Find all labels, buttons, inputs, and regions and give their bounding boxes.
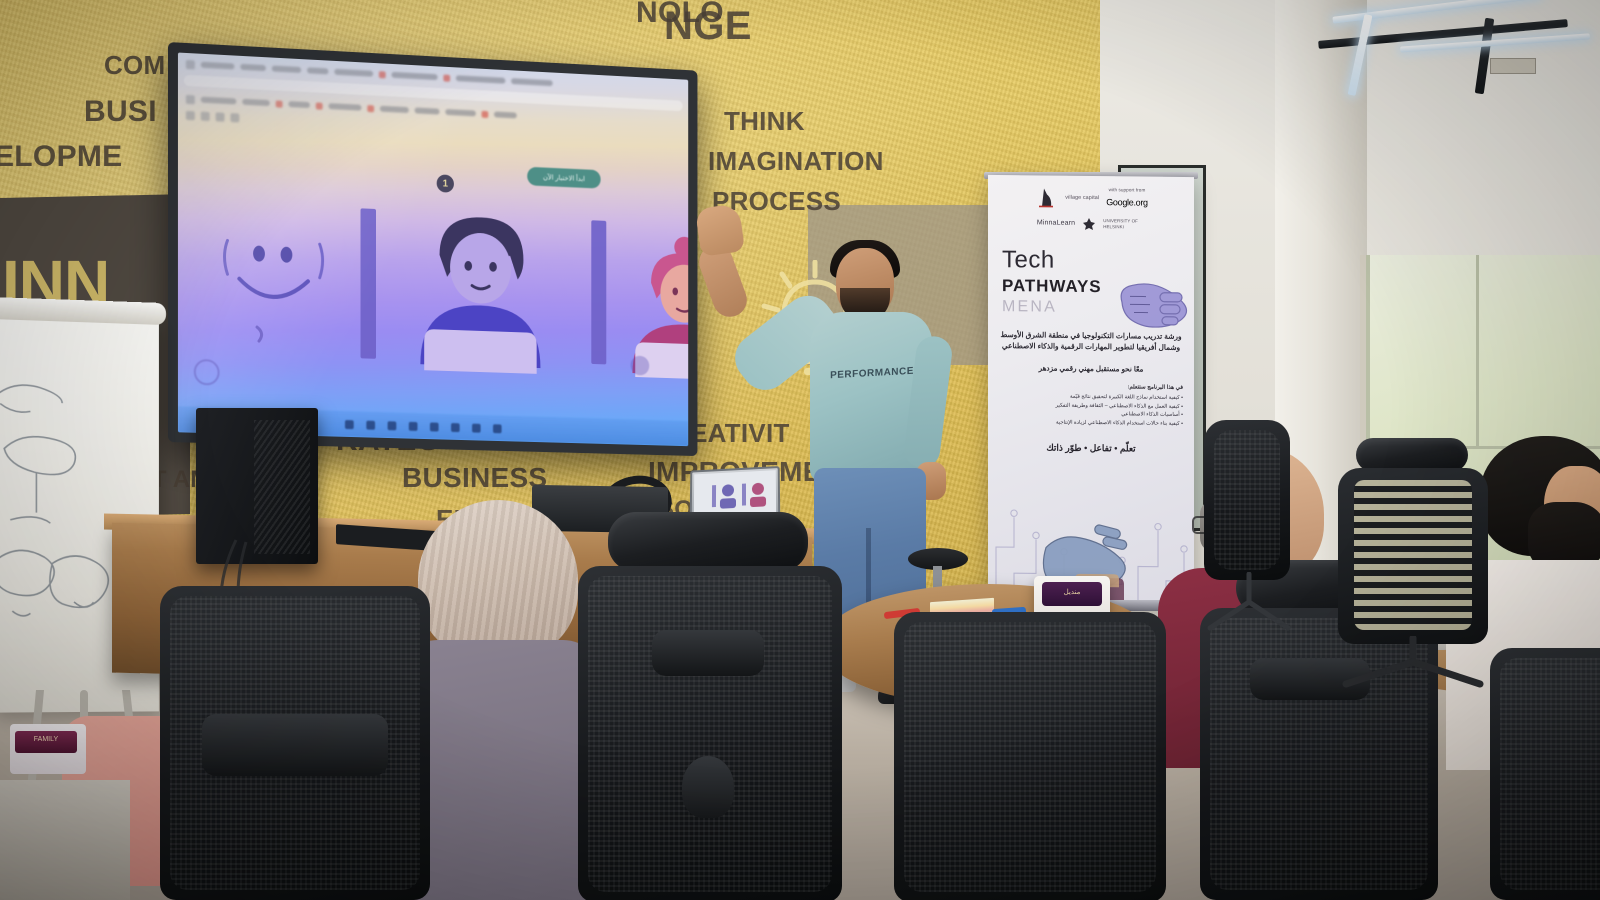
google-support-kicker: with support from: [1106, 187, 1148, 192]
wall-word-business: BUSINESS: [402, 462, 547, 494]
left-side-table: [0, 780, 130, 900]
chair-base-2: [1204, 572, 1294, 642]
office-chair-empty[interactable]: [1330, 438, 1496, 690]
person-at-laptop-illustration-1: [391, 206, 568, 379]
office-chair-background[interactable]: [1204, 420, 1294, 650]
smart-display[interactable]: ابدأ الاختبار الآن 1: [168, 42, 697, 456]
smiley-face-icon: [216, 222, 334, 346]
back-icon[interactable]: [186, 111, 195, 120]
person-at-laptop-illustration-2: [614, 231, 688, 381]
explorer-icon[interactable]: [409, 421, 418, 430]
banner-footer-tagline: تعلّم • تفاعل • طوّر ذاتك: [988, 442, 1194, 455]
banner-tagline-ar: معًا نحو مستقبل مهني رقمي مزدهر: [988, 362, 1194, 375]
wall-word-think: THINK: [724, 106, 805, 137]
mail-icon[interactable]: [472, 423, 481, 432]
banner-heading-pathways: PATHWAYS: [1002, 277, 1194, 296]
browser-menu-icon[interactable]: [186, 59, 195, 68]
banner-bullet-3: • كيفية بناء حالات استخدام الذكاء الاصطن…: [999, 418, 1183, 428]
office-chair-far-right[interactable]: [1490, 648, 1600, 900]
wall-word-imagination: IMAGINATION: [708, 146, 884, 177]
banner-heading-mena: MENA: [1002, 299, 1194, 317]
chair-base: [1330, 636, 1496, 696]
partner-crest-logo: [1034, 187, 1058, 209]
minnalearn-logo: MinnaLearn: [1037, 220, 1075, 227]
bookmark-folder-icon[interactable]: [186, 94, 195, 103]
refresh-icon[interactable]: [201, 112, 210, 121]
bookmark-icon[interactable]: [216, 112, 225, 121]
slide-illustration: 1: [178, 172, 688, 417]
smart-display-screen[interactable]: ابدأ الاختبار الآن 1: [178, 53, 688, 447]
browser-bookmarks-bar[interactable]: [178, 93, 688, 130]
banner-heading-block: Tech PATHWAYS MENA: [988, 230, 1194, 317]
settings-icon[interactable]: [493, 424, 502, 433]
office-chair-center[interactable]: [560, 512, 860, 900]
page-chat-icon[interactable]: [631, 356, 650, 376]
banner-heading-tech: Tech: [1002, 248, 1194, 274]
banner-bullet-list: • كيفية استخدام نماذج اللغة الكبيرة لتحق…: [988, 392, 1194, 428]
google-org-logo: Google.org: [1106, 197, 1148, 207]
rollup-banner: village capital with support from Google…: [988, 175, 1194, 607]
browser-address-bar[interactable]: [184, 75, 683, 111]
office-chair-left[interactable]: [150, 560, 440, 900]
tab-favicon-red[interactable]: [379, 71, 386, 78]
village-capital-logo: village capital: [1065, 195, 1099, 201]
left-tissue-brand-band: FAMILY: [15, 731, 77, 753]
wall-word-com: COM: [104, 50, 165, 81]
tab-favicon-red-2[interactable]: [443, 74, 450, 81]
attendee-hijab-headscarf: [418, 500, 578, 660]
search-icon[interactable]: [366, 420, 375, 429]
wall-word-busi: BUSI: [84, 95, 157, 129]
edge-icon[interactable]: [430, 422, 439, 431]
wall-word-elopme: ELOPME: [0, 140, 122, 174]
start-quiz-button[interactable]: ابدأ الاختبار الآن: [527, 167, 600, 189]
star-icon[interactable]: [230, 113, 239, 122]
office-chair-right-front[interactable]: [880, 612, 1180, 900]
taskview-icon[interactable]: [388, 421, 397, 430]
left-tissue-box[interactable]: FAMILY: [10, 724, 86, 774]
banner-logo-strip: village capital with support from Google…: [988, 175, 1194, 232]
tissue-brand-band: منديل: [1042, 582, 1102, 606]
page-logo-icon: [194, 359, 220, 386]
chrome-icon[interactable]: [451, 423, 460, 432]
wall-word-nge: NGE: [664, 4, 752, 49]
slide-badge: 1: [437, 174, 454, 192]
banner-logo-row-1: village capital with support from Google…: [998, 186, 1184, 211]
browser-toolbar-icons[interactable]: [178, 110, 688, 144]
university-of-helsinki-logo: UNIVERSITY OF HELSINKI: [1103, 218, 1145, 229]
banner-bullets-heading: في هذا البرنامج ستتعلم:: [988, 383, 1194, 391]
ceiling-vent: [1490, 58, 1536, 74]
helsinki-crest-icon: [1082, 217, 1096, 231]
start-icon[interactable]: [345, 420, 354, 429]
workshop-photo-scene: COM BUSI ELOPME INN NOLO NGE THINK IMAGI…: [0, 0, 1600, 900]
